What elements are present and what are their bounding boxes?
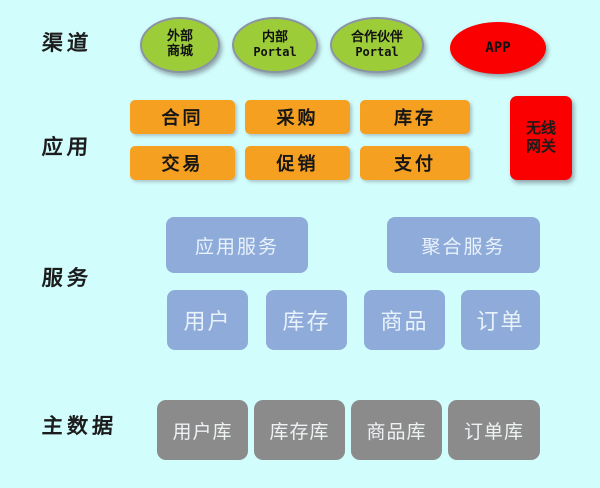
node-external-mall[interactable]: 外部 商城 xyxy=(140,17,220,73)
node-contract[interactable]: 合同 xyxy=(130,100,235,134)
node-product-service-label: 商品 xyxy=(380,304,428,336)
tier-label-master-data: 主数据 xyxy=(41,415,117,436)
node-application-service-label: 应用服务 xyxy=(195,232,279,259)
node-wireless-gateway-line2: 网关 xyxy=(526,138,556,156)
node-product-db-label: 商品库 xyxy=(366,417,426,444)
node-wireless-gateway-line1: 无线 xyxy=(526,120,556,138)
node-purchase-label: 采购 xyxy=(277,104,319,130)
node-aggregation-service-label: 聚合服务 xyxy=(421,232,505,259)
node-user-service[interactable]: 用户 xyxy=(167,290,248,350)
node-partner-portal[interactable]: 合作伙伴 Portal xyxy=(330,17,424,73)
node-app[interactable]: APP xyxy=(450,22,546,74)
node-partner-portal-line2: Portal xyxy=(355,46,398,59)
node-internal-portal-line1: 内部 xyxy=(262,31,288,46)
tier-label-service: 服务 xyxy=(41,267,92,288)
node-promotion-label: 促销 xyxy=(277,150,319,176)
node-inventory-db-label: 库存库 xyxy=(269,417,329,444)
node-internal-portal-line2: Portal xyxy=(253,46,296,59)
node-inventory-service-label: 库存 xyxy=(282,304,330,336)
node-user-db-label: 用户库 xyxy=(172,417,232,444)
tier-label-channel: 渠道 xyxy=(41,32,92,53)
node-contract-label: 合同 xyxy=(162,104,204,130)
tier-label-application: 应用 xyxy=(41,136,92,157)
node-app-label: APP xyxy=(485,40,510,56)
node-wireless-gateway[interactable]: 无线 网关 xyxy=(510,96,572,180)
architecture-diagram: 渠道 外部 商城 内部 Portal 合作伙伴 Portal APP 应用 合同… xyxy=(0,0,600,488)
node-product-db[interactable]: 商品库 xyxy=(351,400,442,460)
node-inventory-service[interactable]: 库存 xyxy=(266,290,347,350)
node-trade-label: 交易 xyxy=(162,150,204,176)
node-trade[interactable]: 交易 xyxy=(130,146,235,180)
node-payment[interactable]: 支付 xyxy=(360,146,470,180)
node-user-service-label: 用户 xyxy=(183,304,231,336)
node-inventory-label: 库存 xyxy=(394,104,436,130)
node-order-db[interactable]: 订单库 xyxy=(448,400,540,460)
node-order-db-label: 订单库 xyxy=(464,417,524,444)
node-order-service-label: 订单 xyxy=(476,304,524,336)
node-purchase[interactable]: 采购 xyxy=(245,100,350,134)
node-order-service[interactable]: 订单 xyxy=(461,290,540,350)
node-external-mall-line1: 外部 xyxy=(167,30,193,45)
node-inventory[interactable]: 库存 xyxy=(360,100,470,134)
node-payment-label: 支付 xyxy=(394,150,436,176)
node-inventory-db[interactable]: 库存库 xyxy=(254,400,345,460)
node-user-db[interactable]: 用户库 xyxy=(157,400,248,460)
node-external-mall-line2: 商城 xyxy=(167,45,193,60)
node-internal-portal[interactable]: 内部 Portal xyxy=(232,17,318,73)
node-promotion[interactable]: 促销 xyxy=(245,146,350,180)
node-application-service[interactable]: 应用服务 xyxy=(166,217,308,273)
node-product-service[interactable]: 商品 xyxy=(364,290,445,350)
node-partner-portal-line1: 合作伙伴 xyxy=(351,31,403,46)
node-aggregation-service[interactable]: 聚合服务 xyxy=(387,217,540,273)
